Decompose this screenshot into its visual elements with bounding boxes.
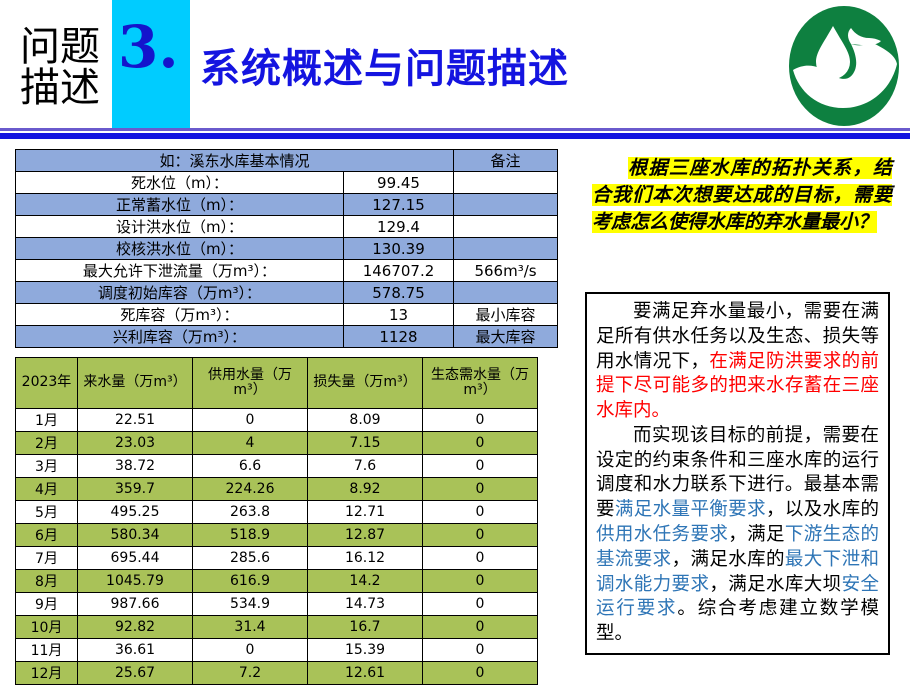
monthly-cell-loss: 12.61 — [308, 662, 423, 685]
monthly-cell-supply: 616.9 — [193, 570, 308, 593]
table-row: 8月 1045.79 616.9 14.2 0 — [16, 570, 538, 593]
monthly-cell-eco: 0 — [423, 639, 538, 662]
monthly-col-header-eco: 生态需水量（万m³） — [423, 358, 538, 409]
monthly-cell-inflow: 359.7 — [78, 478, 193, 501]
basics-value-cell: 129.4 — [344, 216, 454, 238]
table-row: 9月 987.66 534.9 14.73 0 — [16, 593, 538, 616]
monthly-cell-supply: 0 — [193, 409, 308, 432]
basics-label-cell: 校核洪水位（m）： — [16, 238, 344, 260]
basics-note-cell: 566m³/s — [454, 260, 558, 282]
header-section-tag: 问题 描述 — [8, 14, 112, 122]
table-row: 死水位（m）： 99.45 — [16, 172, 558, 194]
table-row: 5月 495.25 263.8 12.71 0 — [16, 501, 538, 524]
monthly-cell-supply: 518.9 — [193, 524, 308, 547]
basics-value-cell: 146707.2 — [344, 260, 454, 282]
monthly-cell-eco: 0 — [423, 432, 538, 455]
monthly-cell-eco: 0 — [423, 593, 538, 616]
header-divider-thick — [0, 133, 910, 139]
basics-note-cell — [454, 238, 558, 260]
basics-note-cell — [454, 172, 558, 194]
monthly-cell-eco: 0 — [423, 662, 538, 685]
table-row-header: 如：溪东水库基本情况 备注 — [16, 150, 558, 172]
table-row: 11月 36.61 0 15.39 0 — [16, 639, 538, 662]
table-row: 兴利库容（万m³）： 1128 最大库容 — [16, 326, 558, 348]
basics-note-cell — [454, 216, 558, 238]
monthly-cell-supply: 0 — [193, 639, 308, 662]
monthly-cell-loss: 8.92 — [308, 478, 423, 501]
table-row: 6月 580.34 518.9 12.87 0 — [16, 524, 538, 547]
basics-value-cell: 578.75 — [344, 282, 454, 304]
reservoir-basics-table: 如：溪东水库基本情况 备注 死水位（m）： 99.45 正常蓄水位（m）： 12… — [15, 149, 558, 348]
basics-value-cell: 1128 — [344, 326, 454, 348]
analysis-p2-e: ，满足 — [728, 524, 785, 545]
monthly-cell-loss: 14.73 — [308, 593, 423, 616]
basics-value-cell: 130.39 — [344, 238, 454, 260]
table-row: 死库容（万m³）： 13 最小库容 — [16, 304, 558, 326]
goal-callout-text: 根据三座水库的拓扑关系，结合我们本次想要达成的目标，需要考虑怎么使得水库的弃水量… — [592, 157, 892, 233]
monthly-cell-loss: 7.6 — [308, 455, 423, 478]
table-row: 最大允许下泄流量（万m³）： 146707.2 566m³/s — [16, 260, 558, 282]
monthly-cell-inflow: 580.34 — [78, 524, 193, 547]
monthly-cell-month: 8月 — [16, 570, 78, 593]
monthly-cell-month: 2月 — [16, 432, 78, 455]
page-title: 系统概述与问题描述 — [200, 36, 569, 94]
basics-note-cell: 最大库容 — [454, 326, 558, 348]
monthly-cell-supply: 6.6 — [193, 455, 308, 478]
monthly-col-header-year: 2023年 — [16, 358, 78, 409]
basics-note-cell — [454, 282, 558, 304]
analysis-p2-i: ，满足水库大坝 — [709, 574, 841, 595]
basics-title-cell: 如：溪东水库基本情况 — [16, 150, 454, 172]
basics-value-cell: 99.45 — [344, 172, 454, 194]
monthly-cell-inflow: 92.82 — [78, 616, 193, 639]
basics-note-cell — [454, 194, 558, 216]
monthly-cell-eco: 0 — [423, 524, 538, 547]
analysis-p2-c: ，以及水库的 — [766, 499, 879, 520]
monthly-cell-inflow: 25.67 — [78, 662, 193, 685]
monthly-cell-loss: 7.15 — [308, 432, 423, 455]
monthly-cell-eco: 0 — [423, 455, 538, 478]
monthly-cell-month: 11月 — [16, 639, 78, 662]
monthly-cell-eco: 0 — [423, 409, 538, 432]
monthly-cell-loss: 12.87 — [308, 524, 423, 547]
header-section-number: 3. — [118, 18, 188, 76]
analysis-p2-b: 满足水量平衡要求 — [615, 499, 766, 520]
monthly-cell-month: 5月 — [16, 501, 78, 524]
basics-label-cell: 设计洪水位（m）： — [16, 216, 344, 238]
table-row: 正常蓄水位（m）： 127.15 — [16, 194, 558, 216]
basics-label-cell: 死水位（m）： — [16, 172, 344, 194]
monthly-cell-eco: 0 — [423, 501, 538, 524]
table-row: 2月 23.03 4 7.15 0 — [16, 432, 538, 455]
header-divider-thin — [0, 128, 910, 131]
monthly-cell-supply: 285.6 — [193, 547, 308, 570]
water-drop-hand-logo — [785, 4, 903, 128]
basics-label-cell: 正常蓄水位（m）： — [16, 194, 344, 216]
monthly-cell-eco: 0 — [423, 570, 538, 593]
monthly-cell-loss: 12.71 — [308, 501, 423, 524]
monthly-cell-month: 4月 — [16, 478, 78, 501]
monthly-water-table: 2023年 来水量（万m³） 供用水量（万m³） 损失量（万m³） 生态需水量（… — [15, 357, 538, 685]
monthly-cell-inflow: 695.44 — [78, 547, 193, 570]
monthly-cell-inflow: 23.03 — [78, 432, 193, 455]
table-row: 10月 92.82 31.4 16.7 0 — [16, 616, 538, 639]
monthly-cell-eco: 0 — [423, 547, 538, 570]
monthly-cell-supply: 7.2 — [193, 662, 308, 685]
table-row: 4月 359.7 224.26 8.92 0 — [16, 478, 538, 501]
slide-header: 问题 描述 3. 系统概述与问题描述 — [0, 0, 910, 132]
monthly-cell-month: 12月 — [16, 662, 78, 685]
analysis-p2-g: ，满足水库的 — [672, 549, 785, 570]
basics-value-cell: 127.15 — [344, 194, 454, 216]
basics-label-cell: 死库容（万m³）： — [16, 304, 344, 326]
basics-label-cell: 兴利库容（万m³）： — [16, 326, 344, 348]
table-row: 7月 695.44 285.6 16.12 0 — [16, 547, 538, 570]
basics-note-cell: 最小库容 — [454, 304, 558, 326]
monthly-cell-supply: 4 — [193, 432, 308, 455]
monthly-cell-inflow: 36.61 — [78, 639, 193, 662]
monthly-cell-month: 9月 — [16, 593, 78, 616]
monthly-cell-month: 7月 — [16, 547, 78, 570]
table-row: 1月 22.51 0 8.09 0 — [16, 409, 538, 432]
analysis-paragraph-2: 而实现该目标的前提，需要在设定的约束条件和三座水库的运行调度和水力联系下进行。最… — [596, 424, 879, 647]
analysis-p2-d: 供用水任务要求 — [596, 524, 728, 545]
table-row: 调度初始库容（万m³）： 578.75 — [16, 282, 558, 304]
monthly-col-header-loss: 损失量（万m³） — [308, 358, 423, 409]
monthly-cell-eco: 0 — [423, 478, 538, 501]
monthly-cell-inflow: 987.66 — [78, 593, 193, 616]
monthly-cell-loss: 8.09 — [308, 409, 423, 432]
monthly-cell-inflow: 1045.79 — [78, 570, 193, 593]
basics-label-cell: 最大允许下泄流量（万m³）： — [16, 260, 344, 282]
monthly-col-header-supply: 供用水量（万m³） — [193, 358, 308, 409]
table-header-row: 2023年 来水量（万m³） 供用水量（万m³） 损失量（万m³） 生态需水量（… — [16, 358, 538, 409]
monthly-cell-loss: 16.12 — [308, 547, 423, 570]
header-tag-line-1: 问题 — [20, 27, 100, 68]
table-row: 3月 38.72 6.6 7.6 0 — [16, 455, 538, 478]
monthly-cell-inflow: 495.25 — [78, 501, 193, 524]
table-row: 设计洪水位（m）： 129.4 — [16, 216, 558, 238]
basics-note-header-cell: 备注 — [454, 150, 558, 172]
monthly-cell-supply: 534.9 — [193, 593, 308, 616]
monthly-cell-month: 10月 — [16, 616, 78, 639]
monthly-cell-month: 1月 — [16, 409, 78, 432]
monthly-cell-loss: 16.7 — [308, 616, 423, 639]
monthly-cell-loss: 15.39 — [308, 639, 423, 662]
monthly-cell-month: 6月 — [16, 524, 78, 547]
goal-callout: 根据三座水库的拓扑关系，结合我们本次想要达成的目标，需要考虑怎么使得水库的弃水量… — [592, 155, 892, 236]
monthly-cell-eco: 0 — [423, 616, 538, 639]
monthly-col-header-inflow: 来水量（万m³） — [78, 358, 193, 409]
monthly-cell-inflow: 22.51 — [78, 409, 193, 432]
basics-label-cell: 调度初始库容（万m³）： — [16, 282, 344, 304]
monthly-cell-supply: 224.26 — [193, 478, 308, 501]
table-row: 校核洪水位（m）： 130.39 — [16, 238, 558, 260]
analysis-paragraph-1: 要满足弃水量最小，需要在满足所有供水任务以及生态、损失等用水情况下，在满足防洪要… — [596, 300, 879, 424]
header-tag-line-2: 描述 — [20, 68, 100, 109]
monthly-cell-supply: 263.8 — [193, 501, 308, 524]
monthly-cell-loss: 14.2 — [308, 570, 423, 593]
basics-value-cell: 13 — [344, 304, 454, 326]
monthly-cell-inflow: 38.72 — [78, 455, 193, 478]
analysis-text-panel: 要满足弃水量最小，需要在满足所有供水任务以及生态、损失等用水情况下，在满足防洪要… — [585, 292, 890, 655]
monthly-cell-month: 3月 — [16, 455, 78, 478]
table-row: 12月 25.67 7.2 12.61 0 — [16, 662, 538, 685]
monthly-cell-supply: 31.4 — [193, 616, 308, 639]
